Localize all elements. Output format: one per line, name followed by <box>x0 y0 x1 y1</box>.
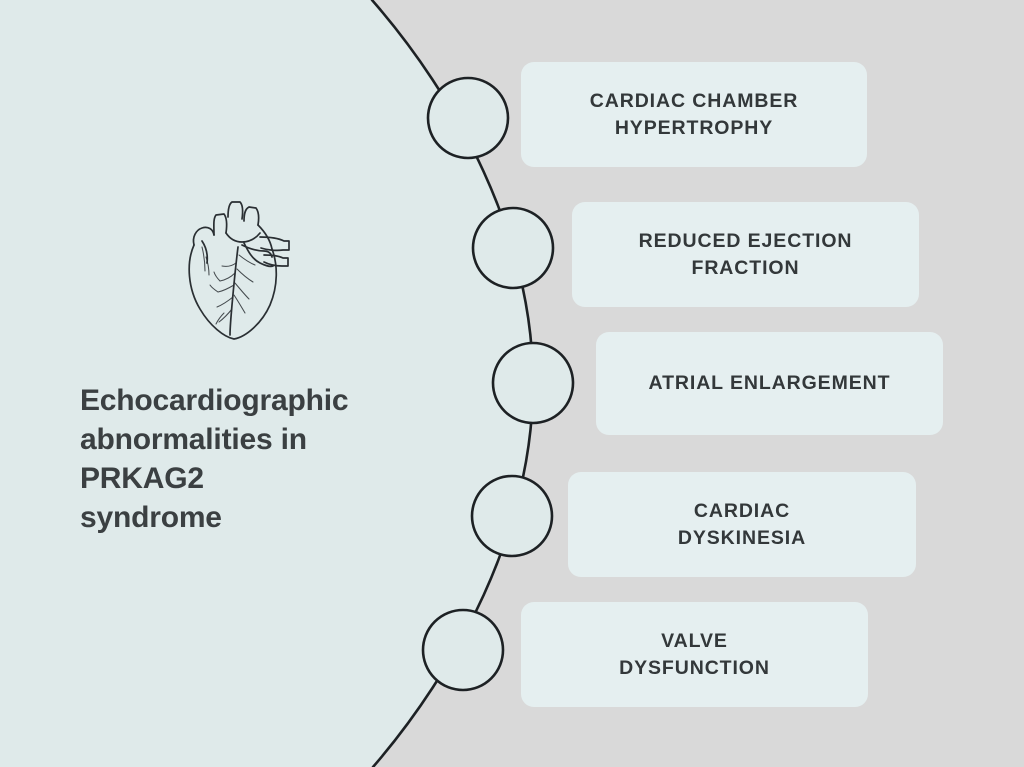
item-card-label: VALVE DYSFUNCTION <box>619 628 770 682</box>
item-card-label: ATRIAL ENLARGEMENT <box>649 370 891 397</box>
node-circle-3[interactable] <box>493 343 573 423</box>
title-line-3: PRKAG2 <box>80 459 440 498</box>
item-label-line: HYPERTROPHY <box>590 115 799 142</box>
item-label-line: FRACTION <box>639 255 853 282</box>
item-card-cardiac-chamber-hypertrophy[interactable]: CARDIAC CHAMBER HYPERTROPHY <box>521 62 867 167</box>
item-card-label: CARDIAC CHAMBER HYPERTROPHY <box>590 88 799 142</box>
anatomical-heart-icon <box>172 193 300 343</box>
item-label-line: DYSKINESIA <box>678 525 806 552</box>
item-label-line: ATRIAL ENLARGEMENT <box>649 370 891 397</box>
title-line-2: abnormalities in <box>80 420 440 459</box>
item-label-line: REDUCED EJECTION <box>639 228 853 255</box>
item-label-line: DYSFUNCTION <box>619 655 770 682</box>
item-card-reduced-ejection-fraction[interactable]: REDUCED EJECTION FRACTION <box>572 202 919 307</box>
node-circle-4[interactable] <box>472 476 552 556</box>
item-card-cardiac-dyskinesia[interactable]: CARDIAC DYSKINESIA <box>568 472 916 577</box>
item-label-line: CARDIAC <box>678 498 806 525</box>
title-line-4: syndrome <box>80 498 440 537</box>
node-circle-5[interactable] <box>423 610 503 690</box>
item-card-label: REDUCED EJECTION FRACTION <box>639 228 853 282</box>
node-circle-1[interactable] <box>428 78 508 158</box>
page-title: Echocardiographic abnormalities in PRKAG… <box>80 381 440 537</box>
heart-illustration <box>172 193 300 343</box>
infographic-canvas: Echocardiographic abnormalities in PRKAG… <box>0 0 1024 767</box>
item-card-atrial-enlargement[interactable]: ATRIAL ENLARGEMENT <box>596 332 943 435</box>
item-label-line: VALVE <box>619 628 770 655</box>
item-label-line: CARDIAC CHAMBER <box>590 88 799 115</box>
item-card-valve-dysfunction[interactable]: VALVE DYSFUNCTION <box>521 602 868 707</box>
title-line-1: Echocardiographic <box>80 381 440 420</box>
node-circle-2[interactable] <box>473 208 553 288</box>
item-card-label: CARDIAC DYSKINESIA <box>678 498 806 552</box>
